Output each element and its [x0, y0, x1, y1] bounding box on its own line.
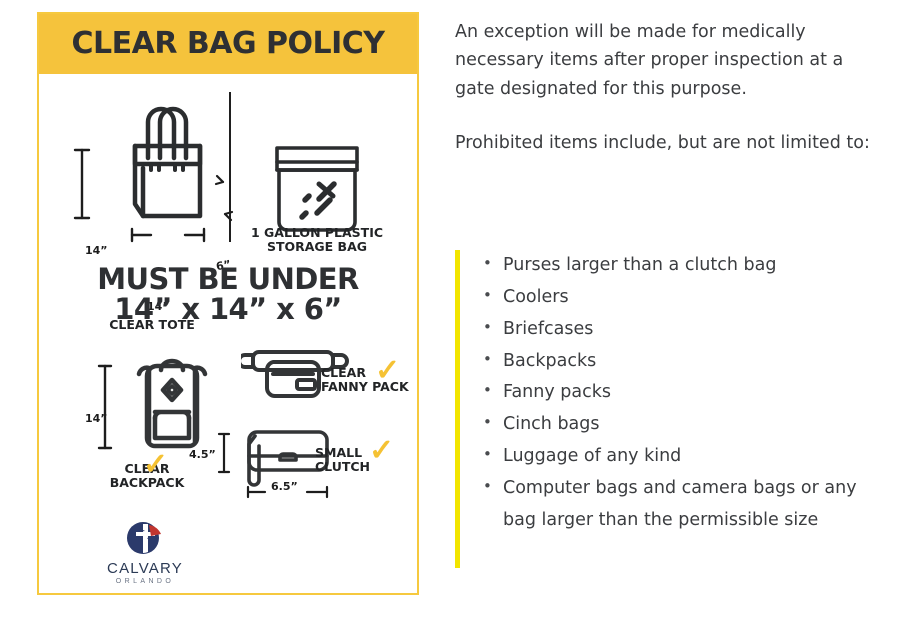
prohibited-items-section: Purses larger than a clutch bag Coolers … — [455, 250, 895, 537]
logo-name: CALVARY — [89, 561, 201, 576]
clutch-width-label: 6.5” — [271, 480, 298, 493]
exception-paragraph: An exception will be made for medically … — [455, 18, 885, 103]
clear-tote-figure — [99, 84, 229, 249]
calvary-mark-icon — [123, 522, 167, 556]
backpack-check-icon: ✓ — [143, 450, 168, 480]
logo-subtitle: ORLANDO — [89, 576, 201, 587]
backpack-height-bracket — [95, 362, 115, 452]
prohibited-intro-paragraph: Prohibited items include, but are not li… — [455, 129, 885, 157]
size-rule: MUST BE UNDER 14” x 14” x 6” — [39, 264, 417, 326]
clutch-check-icon: ✓ — [369, 436, 394, 466]
clear-bag-policy-page: CLEAR BAG POLICY — [0, 0, 900, 626]
prohibited-items-list: Purses larger than a clutch bag Coolers … — [455, 250, 895, 537]
yellow-accent-bar — [455, 250, 460, 568]
list-item: Backpacks — [503, 346, 895, 378]
tote-height-label: 14” — [85, 244, 108, 257]
list-item: Fanny packs — [503, 377, 895, 409]
fanny-pack-check-icon: ✓ — [375, 356, 400, 386]
fanny-pack-caption: CLEAR FANNY PACK — [321, 366, 417, 395]
tote-height-bracket — [71, 146, 93, 222]
storage-bag-caption: 1 GALLON PLASTIC STORAGE BAG — [245, 226, 389, 255]
poster-header: CLEAR BAG POLICY — [39, 14, 417, 74]
calvary-orlando-logo: CALVARY ORLANDO — [89, 522, 201, 587]
list-item: Coolers — [503, 282, 895, 314]
list-item: Luggage of any kind — [503, 441, 895, 473]
tote-depth-arrows — [207, 172, 241, 226]
poster-body: 14” 14” 6” CLEAR TOTE — [39, 74, 417, 593]
policy-poster: CLEAR BAG POLICY — [37, 12, 419, 595]
backpack-icon — [117, 346, 227, 456]
policy-text-column: An exception will be made for medically … — [455, 18, 885, 183]
poster-title: CLEAR BAG POLICY — [71, 29, 384, 59]
clutch-height-label: 4.5” — [189, 448, 216, 461]
size-rule-line1: MUST BE UNDER — [39, 264, 417, 294]
clear-backpack-figure — [117, 346, 227, 461]
storage-bag-figure — [257, 92, 377, 237]
backpack-height-label: 14” — [85, 412, 108, 425]
list-item: Cinch bags — [503, 409, 895, 441]
list-item: Purses larger than a clutch bag — [503, 250, 895, 282]
clutch-height-bracket — [215, 430, 233, 476]
list-item: Briefcases — [503, 314, 895, 346]
tote-width-bracket — [127, 226, 209, 244]
list-item: Computer bags and camera bags or any bag… — [503, 473, 895, 537]
ziplock-bag-icon — [257, 92, 377, 232]
size-rule-line2: 14” x 14” x 6” — [39, 294, 417, 326]
